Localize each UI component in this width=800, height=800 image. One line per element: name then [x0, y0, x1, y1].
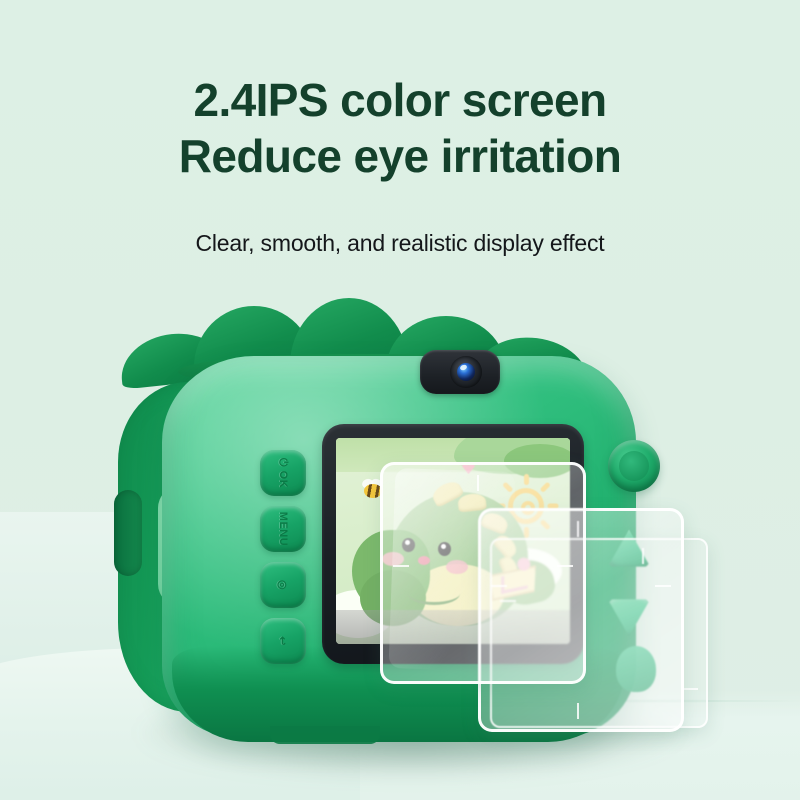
- page-subtitle: Clear, smooth, and realistic display eff…: [0, 230, 800, 257]
- power-ok-button[interactable]: ⏻ OK: [260, 450, 306, 496]
- menu-mode-button-label: MENU: [260, 506, 306, 552]
- page-title: 2.4IPS color screen Reduce eye irritatio…: [0, 72, 800, 184]
- power-ok-button-label: ⏻ OK: [260, 450, 306, 496]
- back-return-button[interactable]: ↩: [260, 618, 306, 664]
- strap-lug: [114, 490, 142, 576]
- back-return-button-label: ↩: [260, 618, 306, 664]
- mode-dial[interactable]: [608, 440, 660, 492]
- shutter-photo-button[interactable]: ◎: [260, 562, 306, 608]
- film-alignment-marks: [383, 465, 583, 681]
- camera-foot: [270, 726, 380, 744]
- menu-mode-button[interactable]: MENU: [260, 506, 306, 552]
- product-marketing-image: 2.4IPS color screen Reduce eye irritatio…: [0, 0, 800, 800]
- screen-protector-film-front: [380, 462, 586, 684]
- headline-line-2: Reduce eye irritation: [0, 128, 800, 184]
- shutter-photo-button-label: ◎: [260, 562, 306, 608]
- headline-line-1: 2.4IPS color screen: [193, 74, 606, 126]
